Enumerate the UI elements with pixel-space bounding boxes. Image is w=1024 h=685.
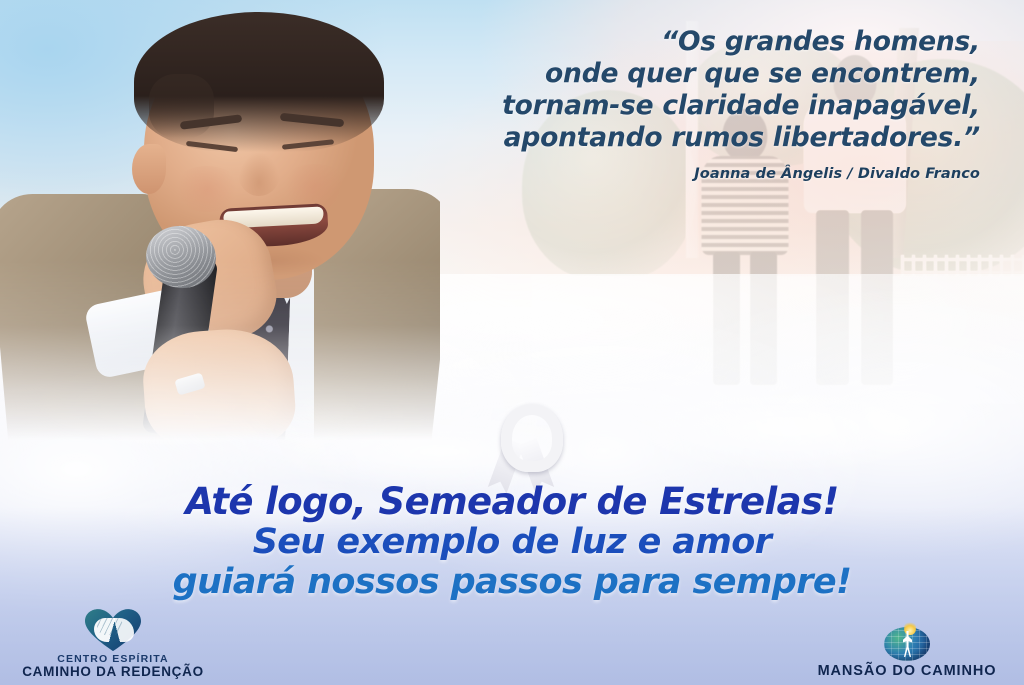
logo-mansao-do-caminho: MANSÃO DO CAMINHO [800,621,1014,679]
quote-attribution: Joanna de Ângelis / Divaldo Franco [380,166,980,182]
headline-line-1: Até logo, Semeador de Estrelas! [0,482,1024,522]
headline-line-2: Seu exemplo de luz e amor [0,522,1024,562]
memorial-poster: “Os grandes homens, onde quer que se enc… [0,0,1024,685]
white-ribbon-icon [482,404,560,486]
fingers-detail [97,617,123,635]
headline-line-3: guiará nossos passos para sempre! [0,562,1024,602]
ribbon-loop [501,404,563,472]
headline-block: Até logo, Semeador de Estrelas! Seu exem… [0,482,1024,602]
logo-centro-espirita: CENTRO ESPÍRITA CAMINHO DA REDENÇÃO [8,609,218,679]
hand-holding-microphone [140,325,298,455]
ear [132,144,166,194]
portrait-figure [0,0,440,454]
nose [238,152,280,196]
quote-line-3: tornam-se claridade inapagável, [380,90,980,122]
quote-line-1: “Os grandes homens, [380,26,980,58]
hair [134,12,384,152]
cloud-wisp [614,384,962,473]
globe-torch-icon [884,621,930,661]
logo-right-line-1: MANSÃO DO CAMINHO [800,664,1014,679]
quote-line-2: onde quer que se encontrem, [380,58,980,90]
quote-line-4: apontando rumos libertadores.” [380,122,980,154]
logo-right-text: MANSÃO DO CAMINHO [800,664,1014,679]
flame-shape [904,621,916,635]
logo-left-line-2: CAMINHO DA REDENÇÃO [8,665,218,679]
heart-hands-icon [85,609,141,651]
quote-block: “Os grandes homens, onde quer que se enc… [380,26,980,182]
logo-left-text: CENTRO ESPÍRITA CAMINHO DA REDENÇÃO [8,654,218,679]
cheek-left [172,166,242,212]
